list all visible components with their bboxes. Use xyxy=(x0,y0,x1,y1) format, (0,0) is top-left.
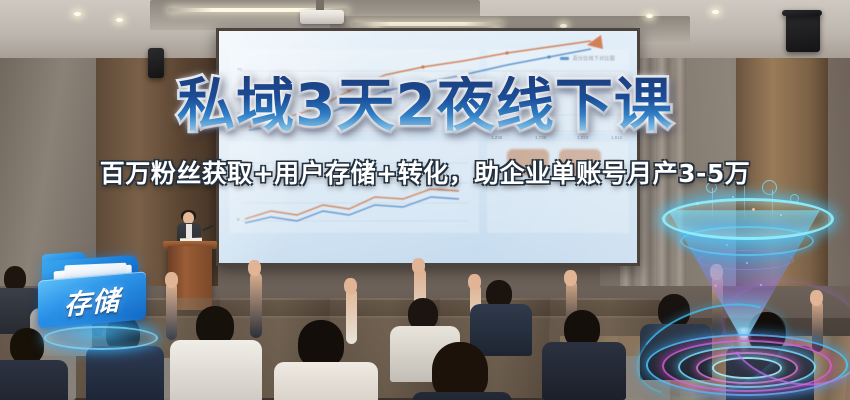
ceiling-projector xyxy=(300,10,344,24)
raised-arm xyxy=(346,288,357,344)
raised-arm xyxy=(166,282,177,340)
ceiling-downlight xyxy=(712,10,719,14)
funnel-hologram xyxy=(640,188,850,400)
raised-hand xyxy=(344,278,357,294)
head xyxy=(298,320,344,368)
funnel-rim xyxy=(662,198,834,240)
torso xyxy=(470,304,532,356)
torso xyxy=(274,362,378,400)
projection-screen: 百分比线下对比图 xyxy=(216,28,640,266)
storage-badge-label: 存储 xyxy=(38,271,146,328)
speaker-bracket xyxy=(782,10,822,16)
raised-arm xyxy=(250,272,262,338)
projected-slide: 百分比线下对比图 xyxy=(219,31,637,263)
ceiling-downlight xyxy=(74,12,81,16)
ceiling-speaker xyxy=(148,48,164,78)
chart-svg xyxy=(219,31,637,263)
axis-tick: 0 xyxy=(237,217,240,222)
raised-hand xyxy=(412,258,425,274)
torso xyxy=(542,342,626,400)
storage-badge: 存储 xyxy=(34,252,164,356)
subheadline: 百万粉丝获取+用户存储+转化，助企业单账号月产3-5万 xyxy=(0,160,850,188)
raised-hand xyxy=(564,270,577,286)
torso xyxy=(170,340,262,400)
badge-halo-ring xyxy=(44,326,158,350)
torso xyxy=(0,360,68,400)
ceiling-downlight xyxy=(116,18,123,22)
ceiling-speaker xyxy=(786,14,820,52)
headline: 私域3天2夜线下课 xyxy=(0,76,850,134)
ceiling-light-strip xyxy=(352,22,502,26)
promotional-banner: 百分比线下对比图 xyxy=(0,0,850,400)
presenter-shirt xyxy=(186,224,192,238)
ceiling-downlight xyxy=(646,14,653,18)
torso xyxy=(412,392,512,400)
raised-hand xyxy=(165,272,178,288)
raised-hand xyxy=(468,274,481,290)
raised-hand xyxy=(248,260,261,276)
